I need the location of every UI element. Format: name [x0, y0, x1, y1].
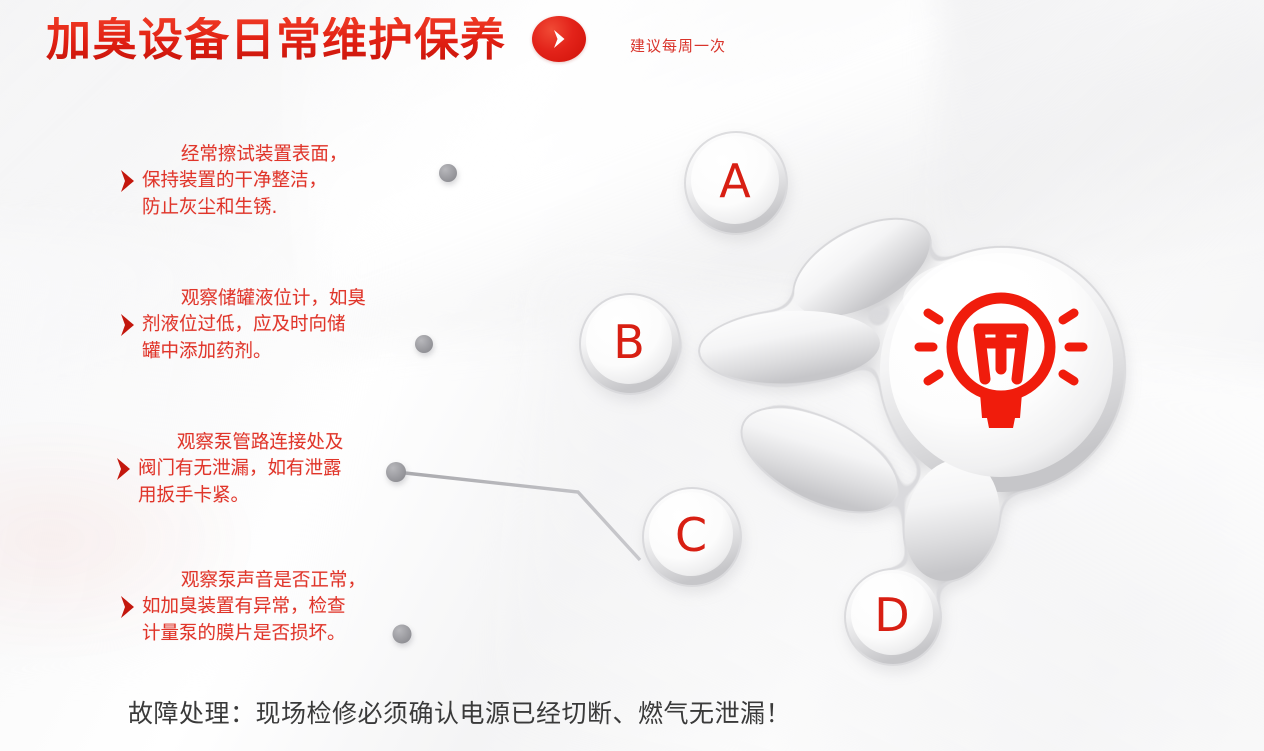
- chevron-right-icon: [118, 166, 140, 196]
- chevron-right-icon: [118, 592, 140, 622]
- connector-line-c: [396, 472, 640, 560]
- poster-canvas: 加臭设备日常维护保养 建议每周一次: [0, 0, 1264, 751]
- maintenance-item-a-text: 经常擦试装置表面， 保持装置的干净整洁， 防止灰尘和生锈.: [142, 142, 347, 221]
- node-label-b: B: [613, 315, 645, 369]
- node-label-a: A: [719, 154, 751, 208]
- maintenance-item-c: 观察泵管路连接处及 阀门有无泄漏，如有泄露 用扳手卡紧。: [114, 430, 414, 509]
- maintenance-item-b-text: 观察储罐液位计，如臭 剂液位过低，应及时向储 罐中添加药剂。: [142, 286, 366, 365]
- connector-dot-a: [439, 164, 457, 182]
- maintenance-item-d-text: 观察泵声音是否正常， 如加臭装置有异常，检查 计量泵的膜片是否损坏。: [142, 568, 366, 647]
- maintenance-item-d: 观察泵声音是否正常， 如加臭装置有异常，检查 计量泵的膜片是否损坏。: [118, 568, 418, 647]
- maintenance-item-a: 经常擦试装置表面， 保持装置的干净整洁， 防止灰尘和生锈.: [118, 142, 418, 221]
- maintenance-item-c-text: 观察泵管路连接处及 阀门有无泄漏，如有泄露 用扳手卡紧。: [138, 430, 343, 509]
- node-label-c: C: [675, 508, 707, 562]
- footer-warning: 故障处理：现场检修必须确认电源已经切断、燃气无泄漏！: [128, 694, 791, 730]
- node-label-d: D: [874, 588, 909, 642]
- connector-lines: [386, 164, 862, 644]
- maintenance-item-b: 观察储罐液位计，如臭 剂液位过低，应及时向储 罐中添加药剂。: [118, 286, 418, 365]
- chevron-right-icon: [118, 310, 140, 340]
- chevron-right-icon: [114, 454, 136, 484]
